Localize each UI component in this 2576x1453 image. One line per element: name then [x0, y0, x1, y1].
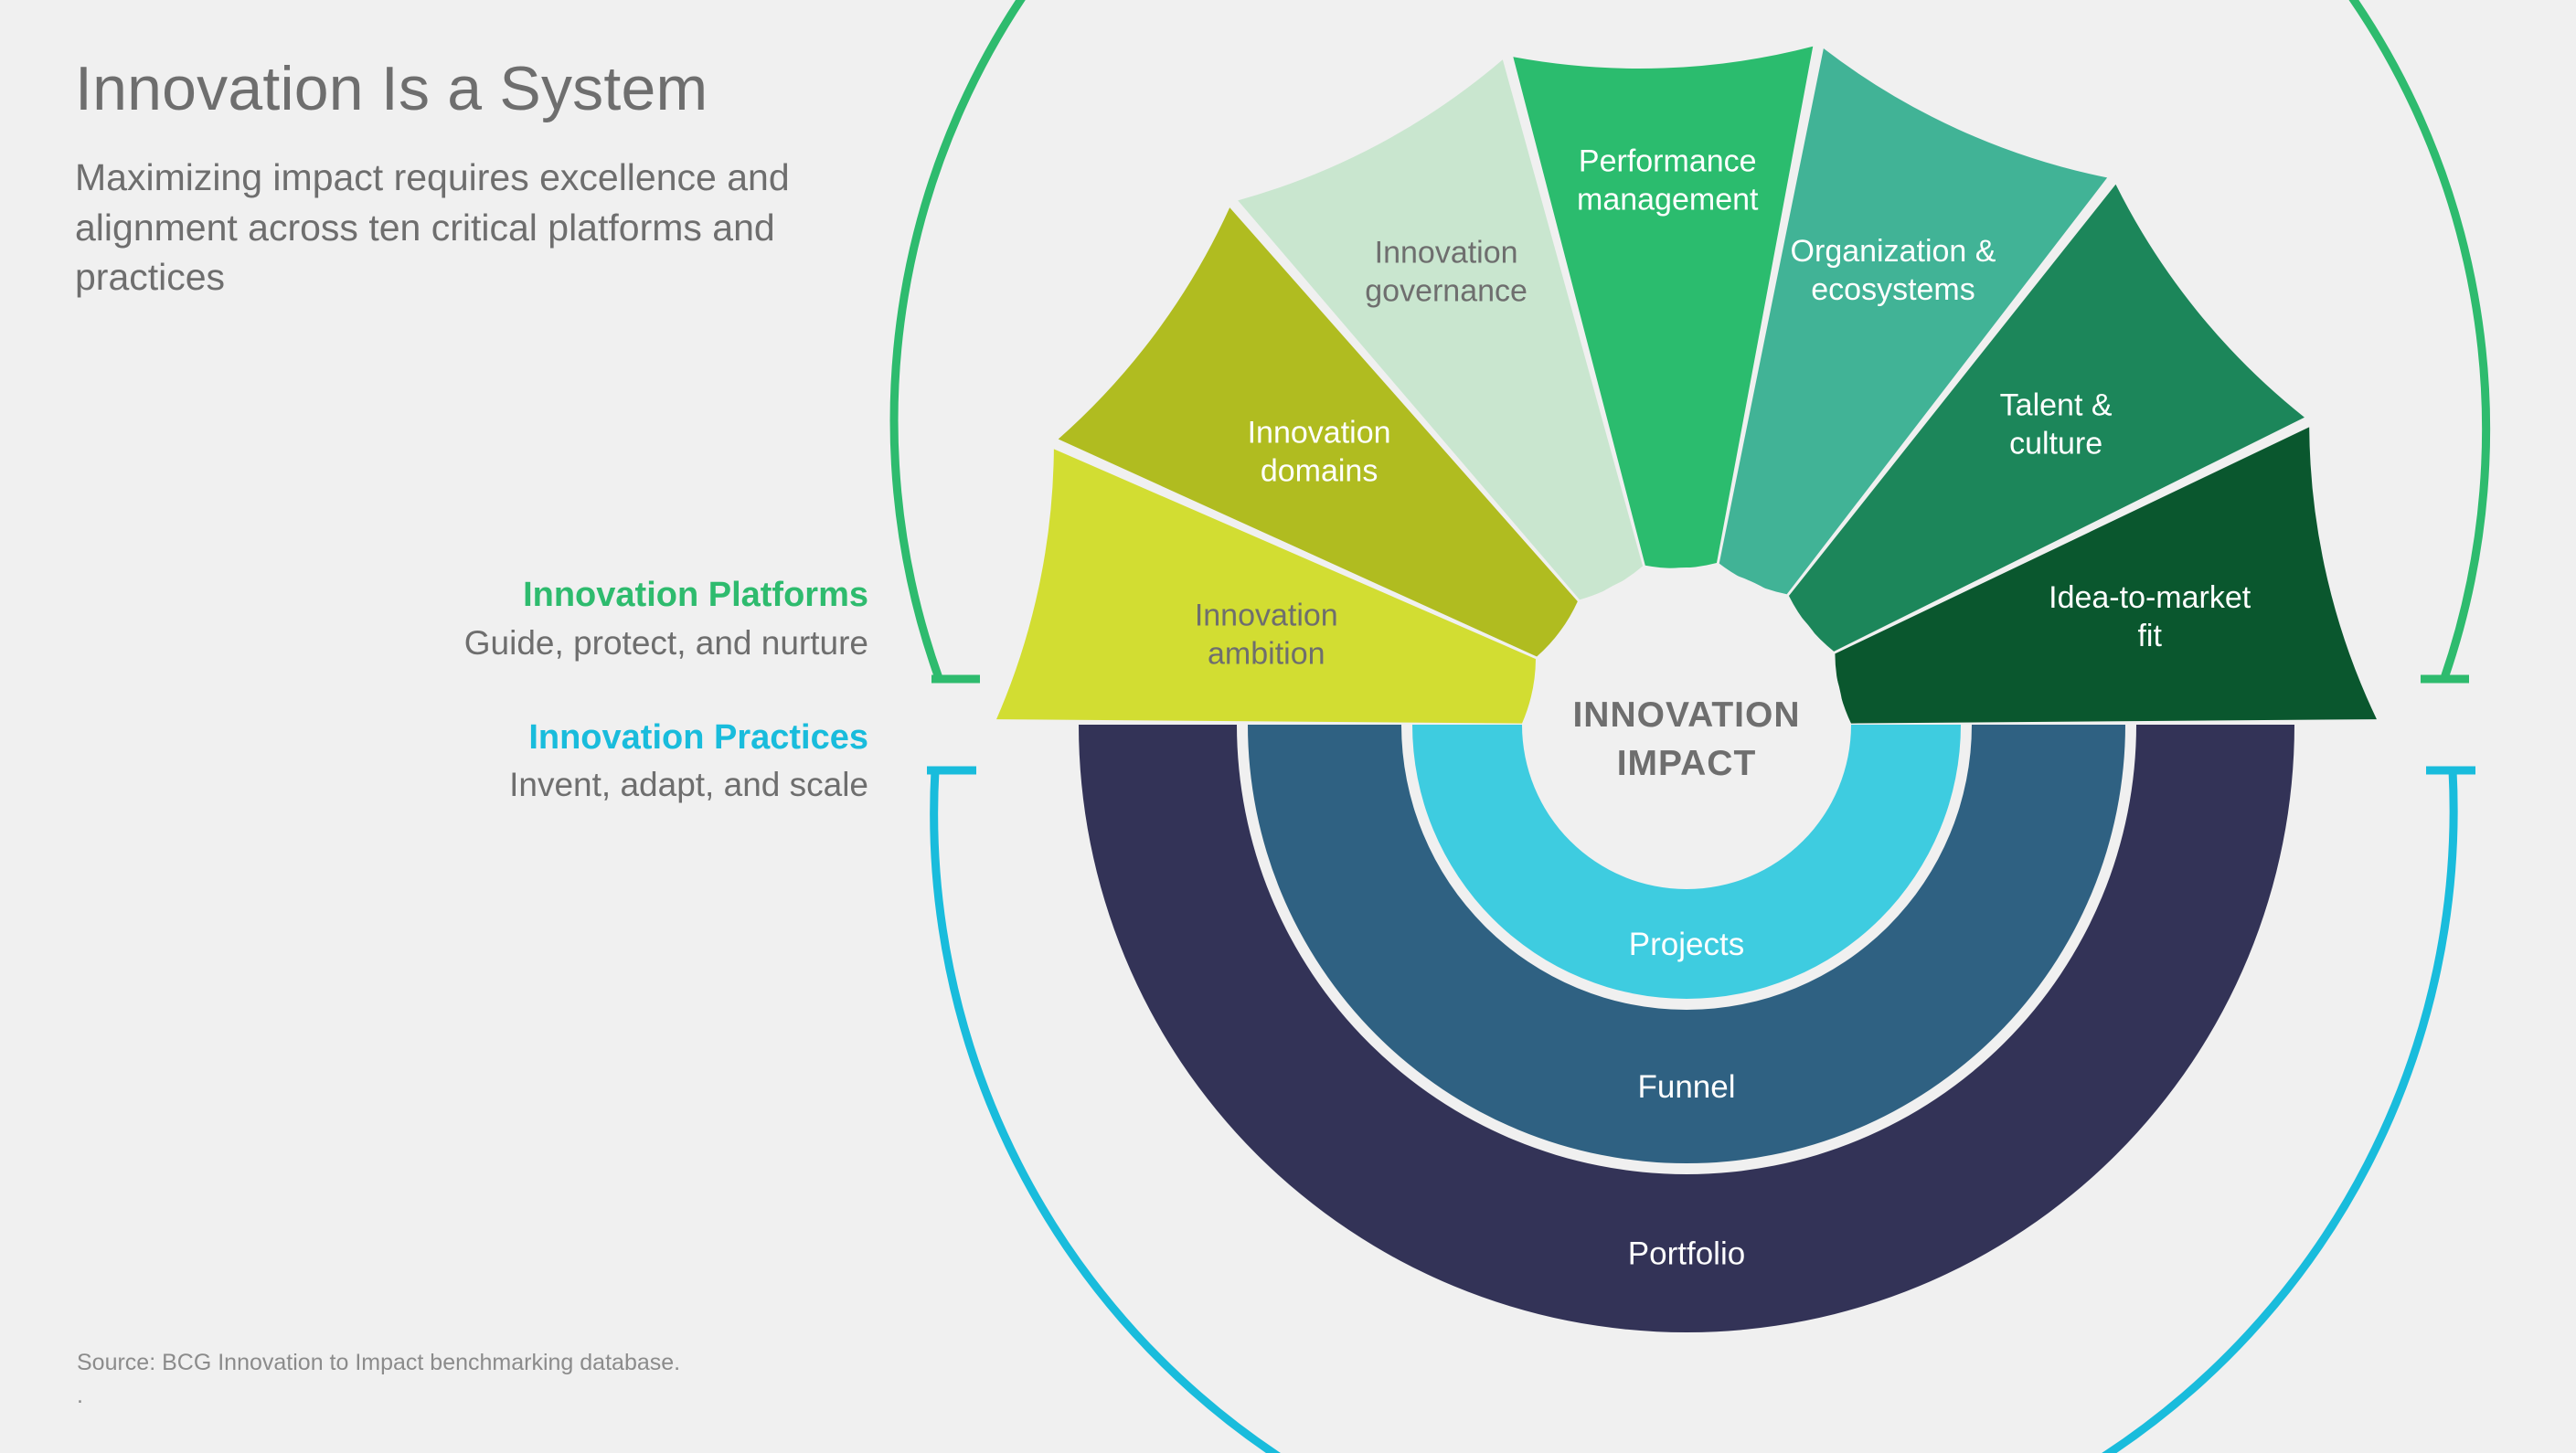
segment-label-line: Innovation	[1375, 236, 1518, 270]
innovation-system-wheel: Idea-to-marketfitTalent &cultureOrganiza…	[0, 0, 2576, 1453]
center-hub: INNOVATION IMPACT	[1529, 567, 1844, 882]
segment-label-line: fit	[2137, 619, 2162, 653]
segment-label-line: Organization &	[1791, 234, 1996, 269]
segment-label-line: Innovation	[1248, 416, 1391, 451]
hub-label-line1: INNOVATION	[1572, 695, 1800, 735]
segment-label-line: Talent &	[2000, 388, 2113, 423]
segment-label-line: domains	[1261, 454, 1378, 489]
segment-label-line: culture	[2009, 427, 2102, 461]
slide-canvas: Innovation Is a System Maximizing impact…	[0, 0, 2576, 1453]
practice-ring-label: Portfolio	[1628, 1236, 1745, 1272]
segment-label-line: Idea-to-market	[2049, 580, 2251, 615]
hub-label-line2: IMPACT	[1617, 744, 1757, 783]
practice-ring-label: Funnel	[1637, 1069, 1735, 1105]
segment-label-line: Performance	[1579, 143, 1757, 178]
segment-label-line: governance	[1365, 274, 1528, 309]
practice-ring-label: Projects	[1629, 927, 1744, 962]
segment-label-line: Innovation	[1195, 598, 1338, 632]
segment-label-line: ecosystems	[1811, 272, 1975, 307]
segment-label-line: ambition	[1208, 636, 1325, 671]
segment-label-line: management	[1577, 182, 1759, 217]
